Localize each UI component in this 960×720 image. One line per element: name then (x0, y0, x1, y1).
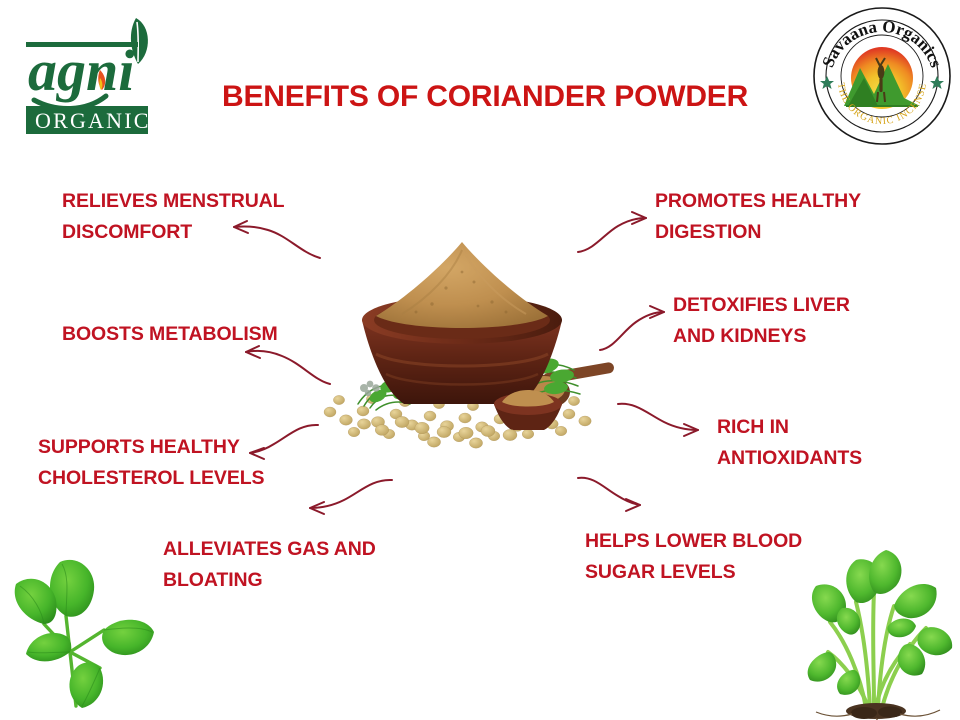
benefit-label-relieves-menstrual-discomfort: RELIEVES MENSTRUAL DISCOMFORT (62, 186, 322, 248)
benefit-line: DISCOMFORT (62, 217, 322, 248)
benefit-label-rich-in-antioxidants: RICH IN ANTIOXIDANTS (717, 412, 947, 474)
benefit-line: DETOXIFIES LIVER (673, 290, 923, 321)
benefit-line: ANTIOXIDANTS (717, 443, 947, 474)
benefit-line: AND KIDNEYS (673, 321, 923, 352)
savaana-organics-logo: Savaana Organics THE ORGANIC INCENSE (812, 6, 952, 146)
arrow-head-rich-in-antioxidants (684, 424, 698, 436)
benefit-line: BLOATING (163, 565, 413, 596)
infographic-canvas: agni ORGANICS BENEFITS OF CORIANDER POWD… (0, 0, 960, 720)
benefit-label-boosts-metabolism: BOOSTS METABOLISM (62, 319, 332, 350)
benefit-label-promotes-healthy-digestion: PROMOTES HEALTHY DIGESTION (655, 186, 905, 248)
coriander-leaf-illustration (4, 520, 169, 710)
benefit-label-supports-healthy-cholesterol-levels: SUPPORTS HEALTHY CHOLESTEROL LEVELS (38, 432, 298, 494)
arrow-head-alleviates-gas-and-bloating (310, 502, 324, 514)
benefit-label-alleviates-gas-and-bloating: ALLEVIATES GAS AND BLOATING (163, 534, 413, 596)
benefit-label-detoxifies-liver-and-kidneys: DETOXIFIES LIVER AND KIDNEYS (673, 290, 923, 352)
savaana-logo-mark: Savaana Organics THE ORGANIC INCENSE (812, 6, 952, 146)
benefit-line: BOOSTS METABOLISM (62, 319, 332, 350)
arrow-path-helps-lower-blood-sugar-levels (578, 478, 640, 505)
benefit-line: RELIEVES MENSTRUAL (62, 186, 322, 217)
coriander-bowl-illustration (306, 236, 636, 456)
benefit-line: SUPPORTS HEALTHY (38, 432, 298, 463)
arrow-head-helps-lower-blood-sugar-levels (626, 499, 640, 511)
arrow-head-detoxifies-liver-and-kidneys (650, 306, 664, 318)
benefit-line: PROMOTES HEALTHY (655, 186, 905, 217)
arrow-path-alleviates-gas-and-bloating (310, 480, 392, 508)
svg-text:agni: agni (28, 38, 134, 103)
coriander-powder-bowl-image (306, 236, 636, 456)
agni-organics-logo: agni ORGANICS (8, 8, 176, 140)
svg-text:ORGANICS: ORGANICS (35, 108, 165, 133)
agni-logo-mark: agni ORGANICS (8, 8, 176, 140)
benefit-line: HELPS LOWER BLOOD (585, 526, 845, 557)
coriander-leaf-image (4, 520, 169, 710)
benefit-line: SUGAR LEVELS (585, 557, 845, 588)
arrow-head-promotes-healthy-digestion (632, 212, 646, 224)
benefit-line: RICH IN (717, 412, 947, 443)
benefit-line: CHOLESTEROL LEVELS (38, 463, 298, 494)
benefit-line: DIGESTION (655, 217, 905, 248)
page-title: BENEFITS OF CORIANDER POWDER (222, 80, 748, 114)
benefit-label-helps-lower-blood-sugar-levels: HELPS LOWER BLOOD SUGAR LEVELS (585, 526, 845, 588)
benefit-line: ALLEVIATES GAS AND (163, 534, 413, 565)
